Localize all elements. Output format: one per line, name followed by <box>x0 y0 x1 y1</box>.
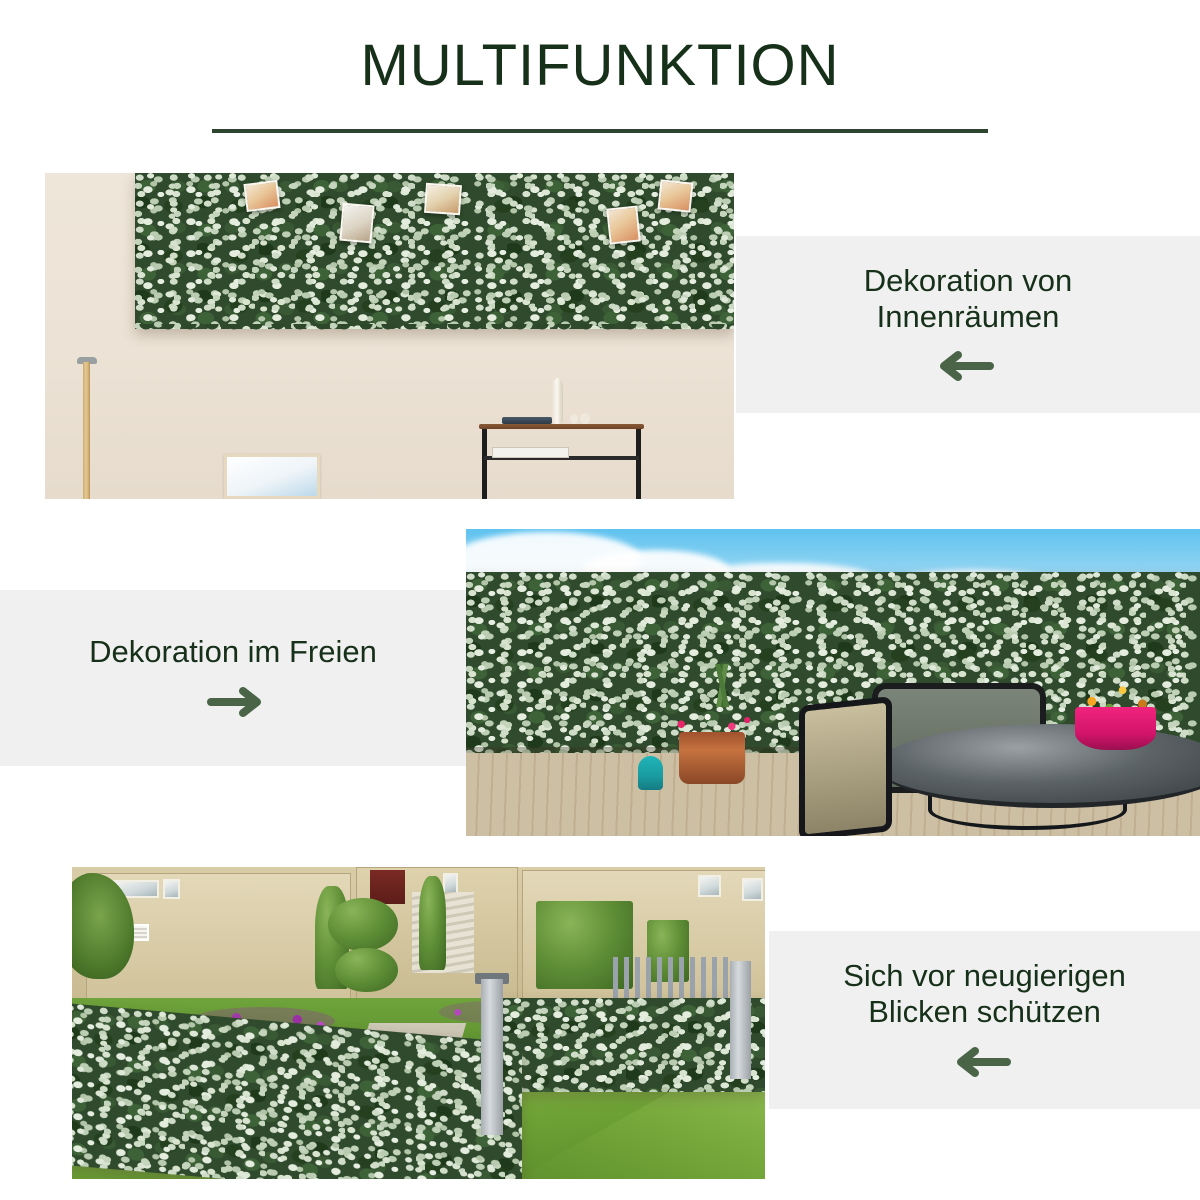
topiary-shrub <box>335 948 397 992</box>
photo-indoor-room <box>45 173 734 499</box>
caption-panel-indoor: Dekoration von Innenräumen <box>736 236 1200 413</box>
photo-privacy-fence <box>72 867 765 1179</box>
house-window <box>163 879 180 899</box>
vase <box>552 378 564 424</box>
ivy-privacy-screen <box>502 998 765 1092</box>
pink-planter <box>1075 707 1156 750</box>
decorative-tray <box>502 417 552 424</box>
garden-gnome <box>638 756 663 790</box>
patio-chair <box>799 696 892 836</box>
pinned-photo <box>340 203 375 244</box>
house-window <box>742 878 763 901</box>
caption-panel-outdoor: Dekoration im Freien <box>0 590 466 766</box>
title-divider <box>212 129 988 133</box>
terracotta-pot <box>679 732 745 784</box>
arrow-left-icon <box>936 346 1000 386</box>
caption-text-privacy: Sich vor neugierigen Blicken schützen <box>829 958 1140 1030</box>
caption-text-indoor: Dekoration von Innenräumen <box>850 263 1087 335</box>
table-top <box>479 424 644 429</box>
pinned-photo <box>244 180 281 212</box>
house-window <box>698 875 721 896</box>
console-table <box>479 424 644 499</box>
ivy-panel-on-wall <box>135 173 734 329</box>
topiary-shrub <box>419 876 447 970</box>
framed-artwork <box>224 454 320 499</box>
caption-text-outdoor: Dekoration im Freien <box>75 634 391 670</box>
arrow-left-icon <box>953 1042 1017 1082</box>
page-title: MULTIFUNKTION <box>0 36 1200 97</box>
house-window <box>443 873 458 893</box>
table-leg <box>636 429 641 499</box>
pinned-photo <box>658 179 694 212</box>
decorative-orb <box>580 413 590 424</box>
table-leg <box>482 429 487 499</box>
caption-panel-privacy: Sich vor neugierigen Blicken schützen <box>769 931 1200 1109</box>
fence-post <box>481 979 503 1135</box>
fence-post <box>730 961 751 1080</box>
cat-scratching-post <box>83 362 91 499</box>
topiary-shrub <box>328 898 397 951</box>
pinned-photo <box>606 206 641 245</box>
picket-fence <box>613 957 731 1001</box>
arrow-right-icon <box>201 682 265 722</box>
photo-outdoor-patio <box>466 529 1200 836</box>
pinned-photo <box>424 183 462 215</box>
shelf-book <box>492 447 568 458</box>
